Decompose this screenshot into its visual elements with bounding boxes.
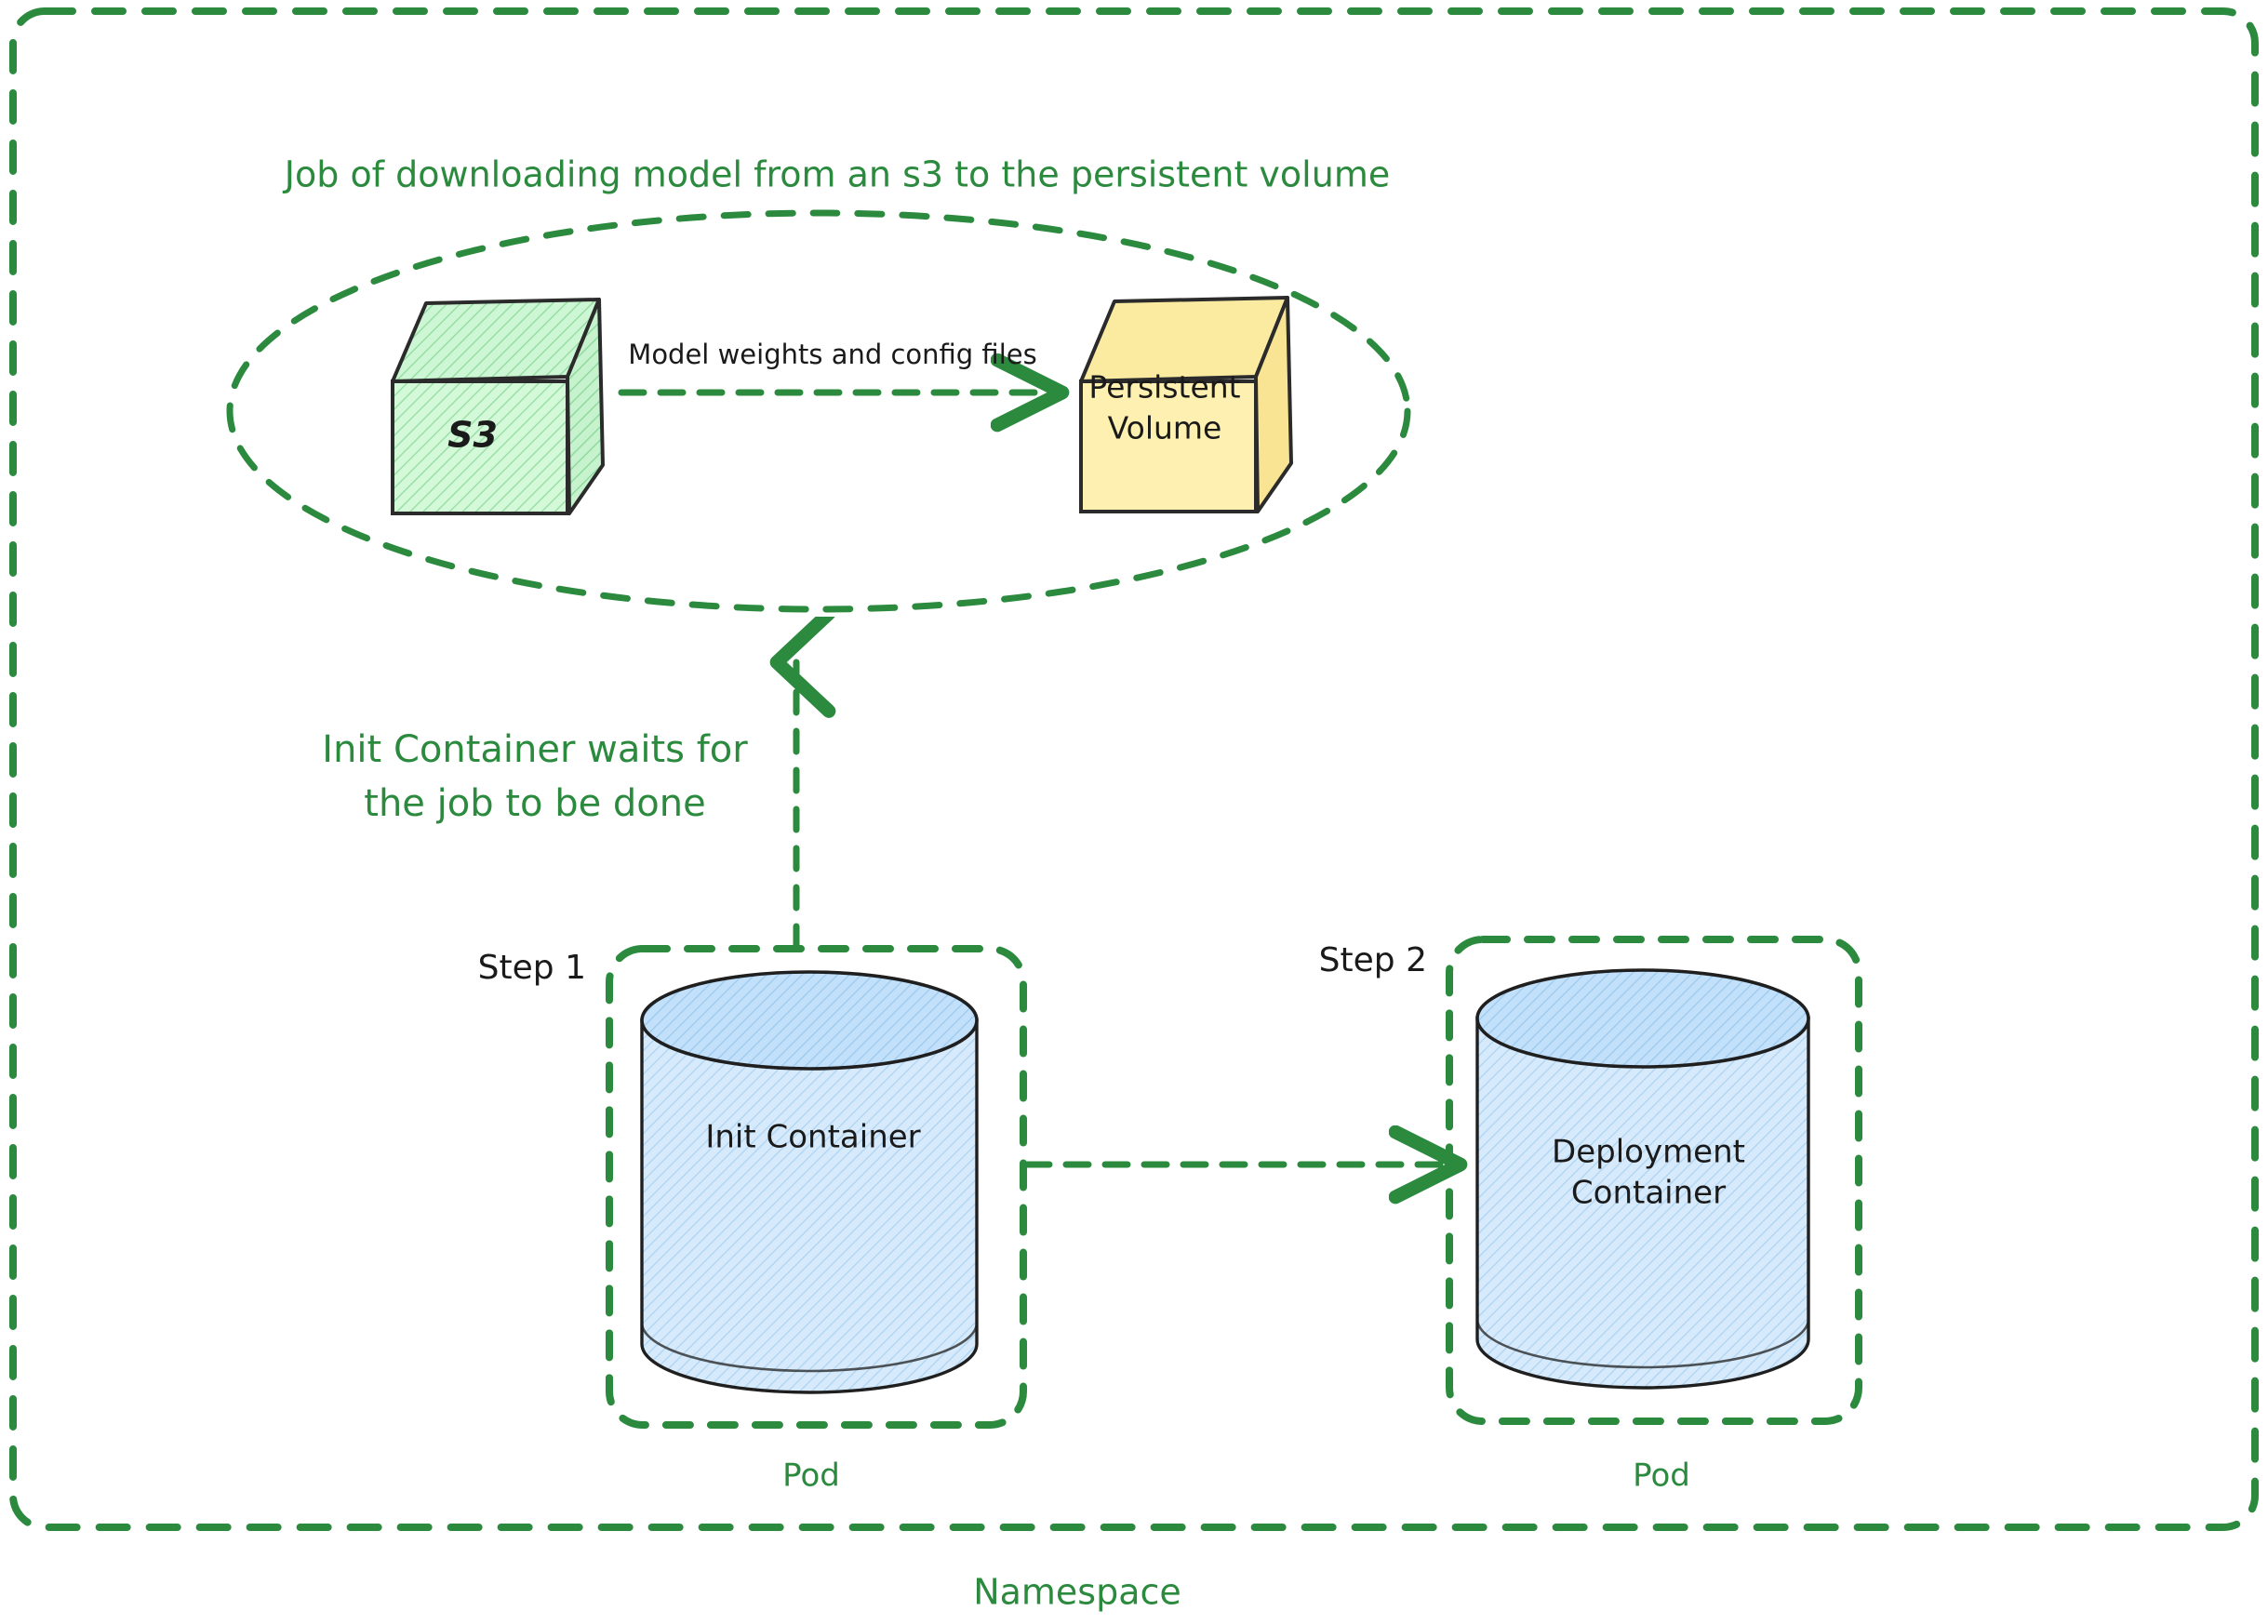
init-container-cylinder-body	[642, 1020, 977, 1392]
pod-1-group: Init Container Step 1 Pod	[478, 949, 1023, 1495]
deployment-container-label-line1: Deployment	[1552, 1134, 1745, 1171]
pod-2-label: Pod	[1633, 1458, 1690, 1495]
edge-init-waits-label-line2: the job to be done	[364, 782, 705, 825]
s3-cube-top-face	[393, 300, 599, 381]
pv-cube-label-line2: Volume	[1108, 410, 1222, 446]
edge-s3-to-pv-label: Model weights and config files	[628, 339, 1036, 370]
s3-cube-label: S3	[447, 415, 498, 456]
job-group-title: Job of downloading model from an s3 to t…	[283, 154, 1390, 195]
init-container-label: Init Container	[705, 1119, 920, 1156]
init-container-cylinder-top-cap	[642, 972, 977, 1069]
diagram-vector-layer: S3 Persistent Volume Init Container Step…	[0, 0, 2268, 1624]
deployment-container-label-line2: Container	[1571, 1175, 1726, 1212]
step-1-label: Step 1	[478, 949, 586, 987]
deployment-container-cylinder-top-cap	[1477, 970, 1808, 1067]
pv-cube-label-line1: Persistent	[1088, 369, 1240, 406]
step-2-label: Step 2	[1319, 941, 1427, 979]
namespace-label: Namespace	[973, 1572, 1181, 1613]
deployment-container-cylinder: Deployment Container	[1477, 970, 1808, 1388]
pod-1-label: Pod	[782, 1458, 840, 1495]
init-container-cylinder: Init Container	[642, 972, 977, 1392]
pod-2-group: Deployment Container Step 2 Pod	[1319, 939, 1859, 1495]
diagram-canvas: S3 Persistent Volume Init Container Step…	[0, 0, 2268, 1624]
persistent-volume-cube: Persistent Volume	[1081, 298, 1291, 512]
edge-init-waits-label-line1: Init Container waits for	[322, 728, 748, 771]
s3-cube: S3	[393, 300, 603, 513]
